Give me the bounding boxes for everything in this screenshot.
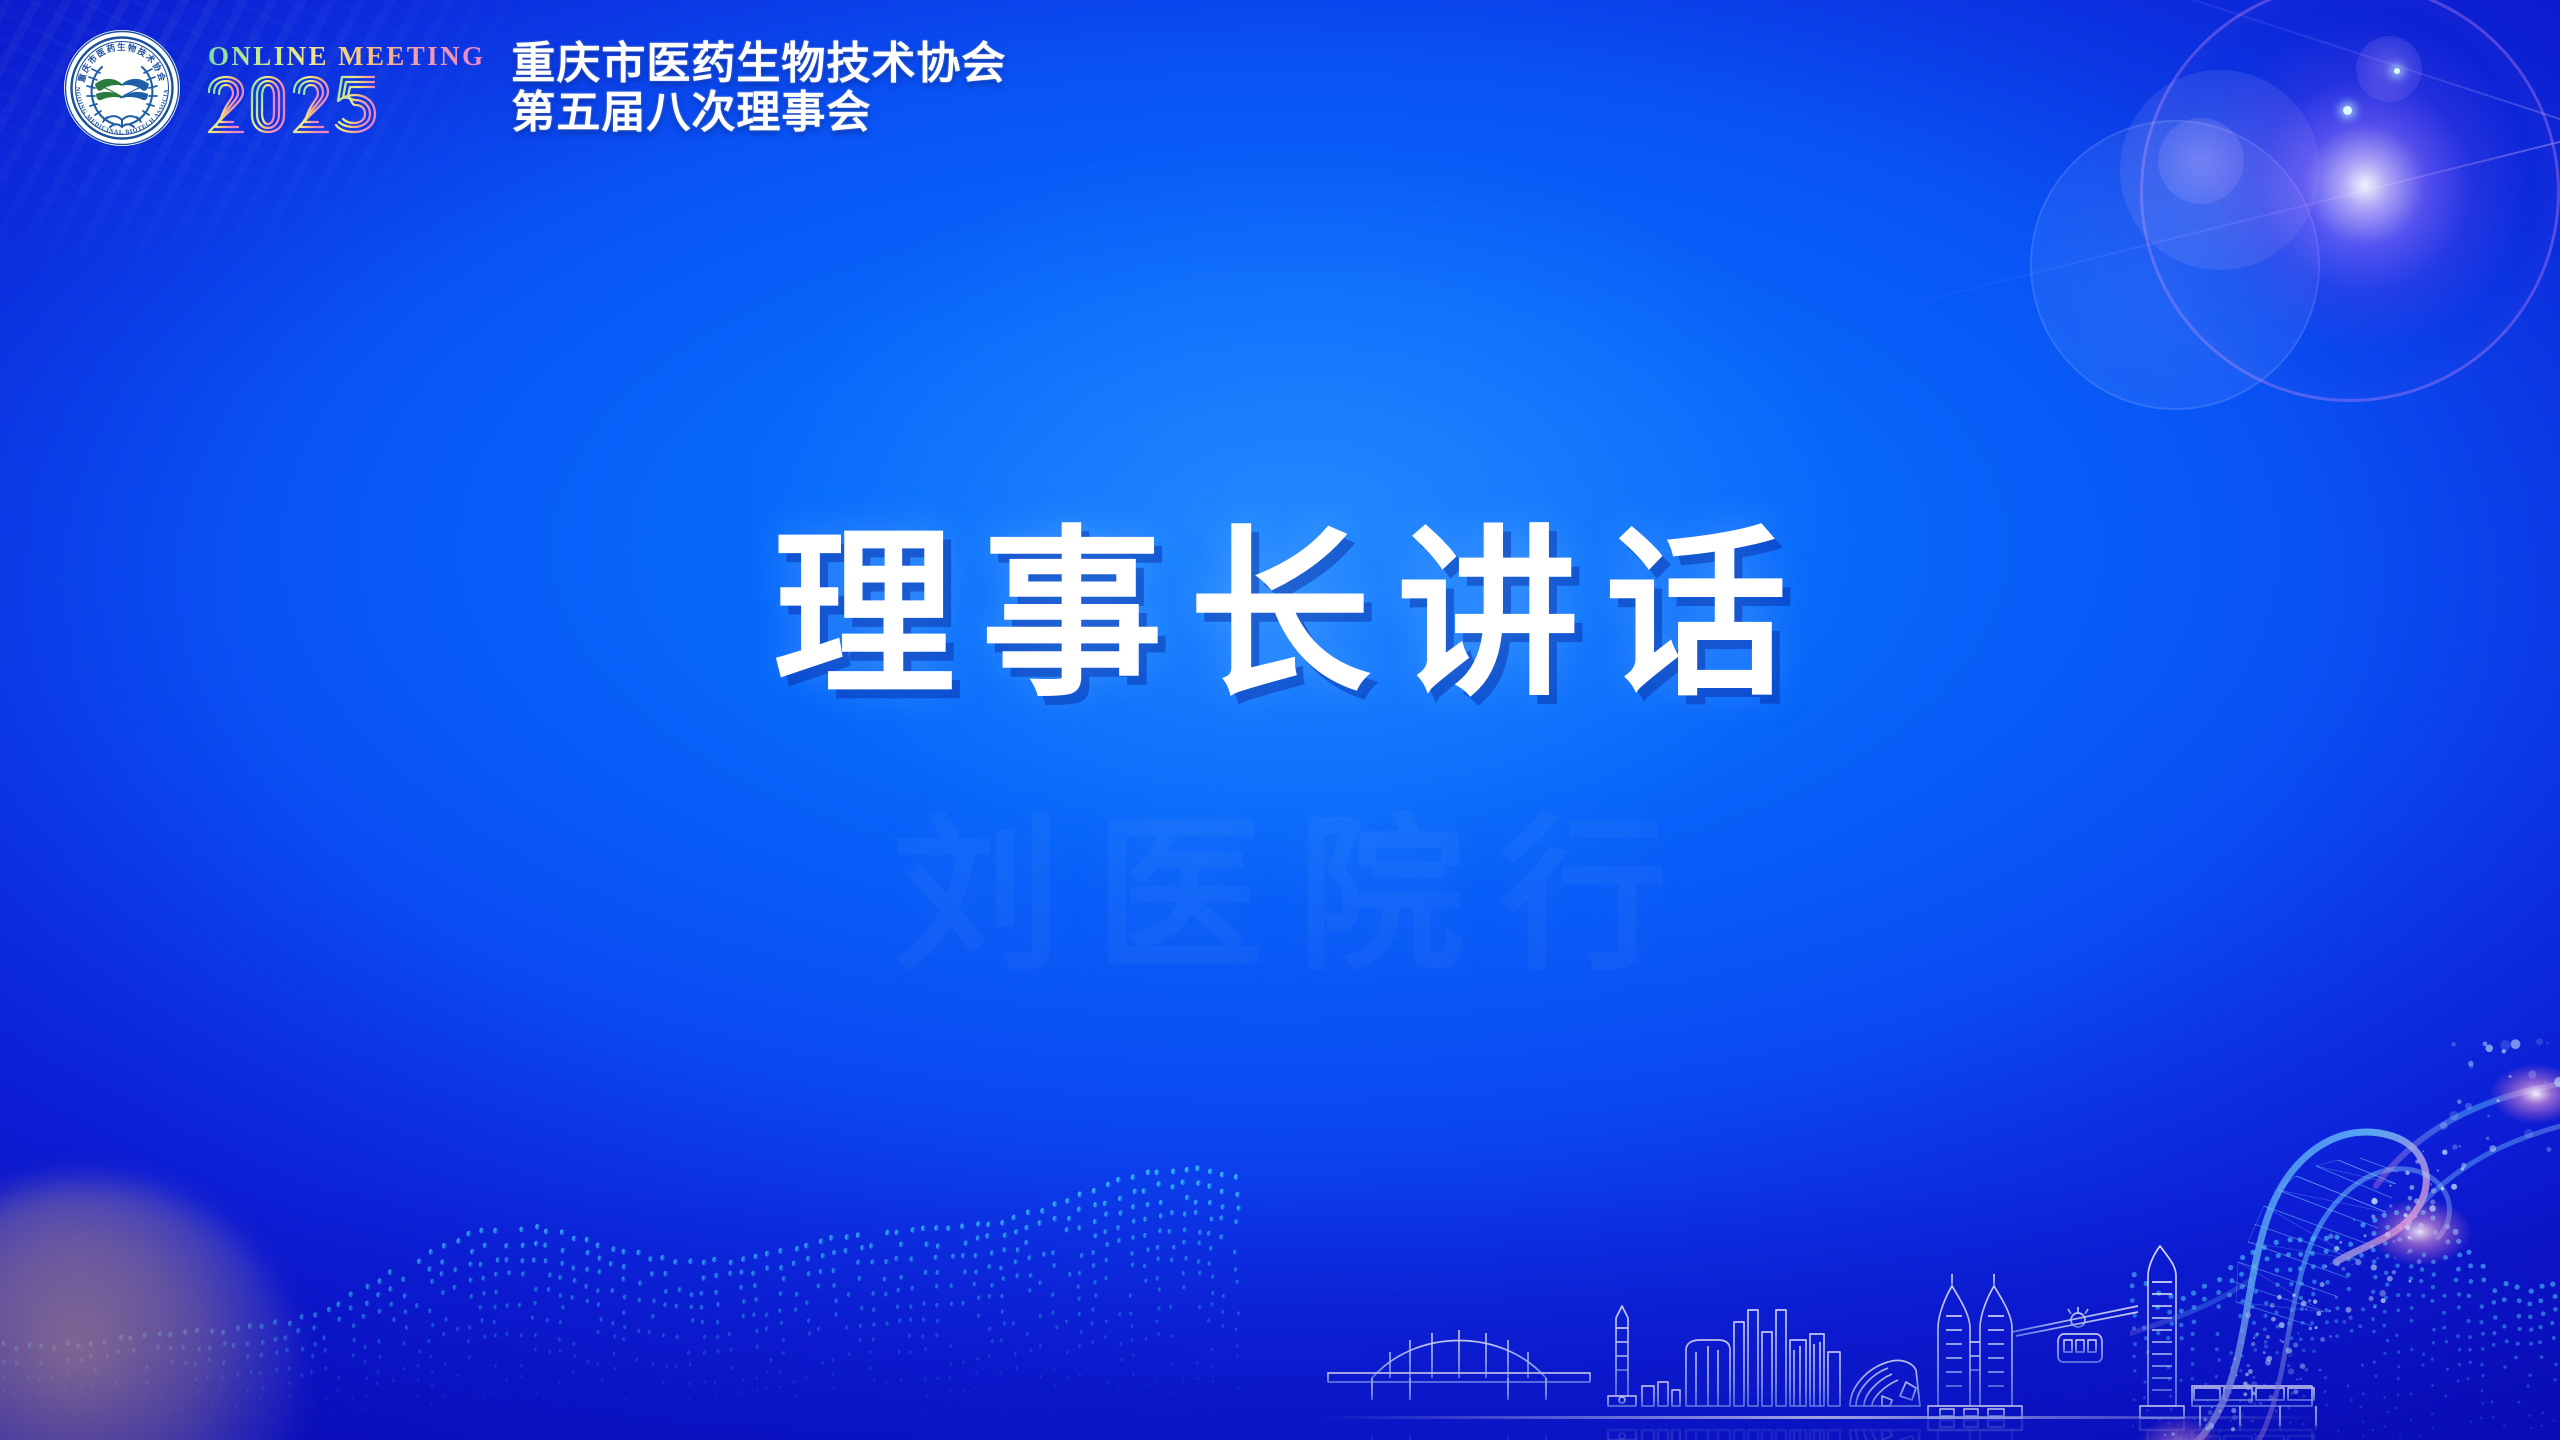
- skyline-monument: [1608, 1294, 1636, 1406]
- flare-sparkle-2-icon: [2394, 68, 2400, 74]
- bottom-haze: [0, 1180, 2560, 1440]
- skyline-small-blocks: [1642, 1382, 1680, 1406]
- bokeh-circle-small-icon: [2158, 118, 2244, 204]
- association-emblem-icon: 重庆市医药生物技术协会 CHONGQING MEDICINAL BIOTECH …: [62, 28, 182, 148]
- city-skyline: [1320, 1210, 2320, 1440]
- skyline-great-hall: [1928, 1274, 2022, 1418]
- dot-matrix-wave-right: [2130, 1190, 2560, 1440]
- flare-core-glow-icon: [2200, 20, 2530, 350]
- event-title-line-1: 重庆市医药生物技术协会: [511, 39, 1006, 88]
- lens-flare-decoration: [1880, 0, 2560, 490]
- slide-header: 重庆市医药生物技术协会 CHONGQING MEDICINAL BIOTECH …: [62, 28, 1006, 148]
- skyline-bridge: [1328, 1330, 1590, 1400]
- bokeh-circle-medium-icon: [2120, 70, 2320, 270]
- presentation-slide: 重庆市医药生物技术协会 CHONGQING MEDICINAL BIOTECH …: [0, 0, 2560, 1440]
- event-title-line-2: 第五届八次理事会: [511, 88, 1006, 137]
- background-vignette: [0, 0, 2560, 1440]
- dna-helix-decoration: [2130, 1010, 2560, 1440]
- dot-matrix-mountain: [0, 1140, 1250, 1440]
- skyline-monorail: [2192, 1386, 2316, 1426]
- flare-sparkle-icon: [2343, 106, 2352, 115]
- flare-streak-2-icon: [1902, 0, 2560, 172]
- flare-ring-icon: [2140, 0, 2560, 402]
- online-meeting-label: ONLINE MEETING: [208, 41, 485, 72]
- skyline-tower-cluster: [1686, 1310, 1840, 1406]
- skyline-grand-theatre: [1850, 1360, 1920, 1406]
- bokeh-circle-tiny-icon: [2356, 36, 2422, 102]
- background-watermark-text: 刘医院行: [0, 760, 2560, 1003]
- skyline-raffles-tower: [2140, 1234, 2184, 1418]
- event-title-block: 重庆市医药生物技术协会 第五届八次理事会: [511, 39, 1006, 138]
- year-2025-graphic: [206, 74, 396, 136]
- slide-main-title: 理事长讲话: [0, 520, 2560, 717]
- flare-streak-icon: [1866, 96, 2560, 316]
- skyline-cable-car: [2012, 1306, 2138, 1362]
- warm-corner-glow: [0, 1180, 300, 1440]
- bokeh-circle-large-icon: [2030, 120, 2320, 410]
- meeting-brand: ONLINE MEETING: [204, 41, 485, 136]
- association-logo: 重庆市医药生物技术协会 CHONGQING MEDICINAL BIOTECH …: [62, 28, 182, 148]
- year-2025-icon: [206, 74, 396, 136]
